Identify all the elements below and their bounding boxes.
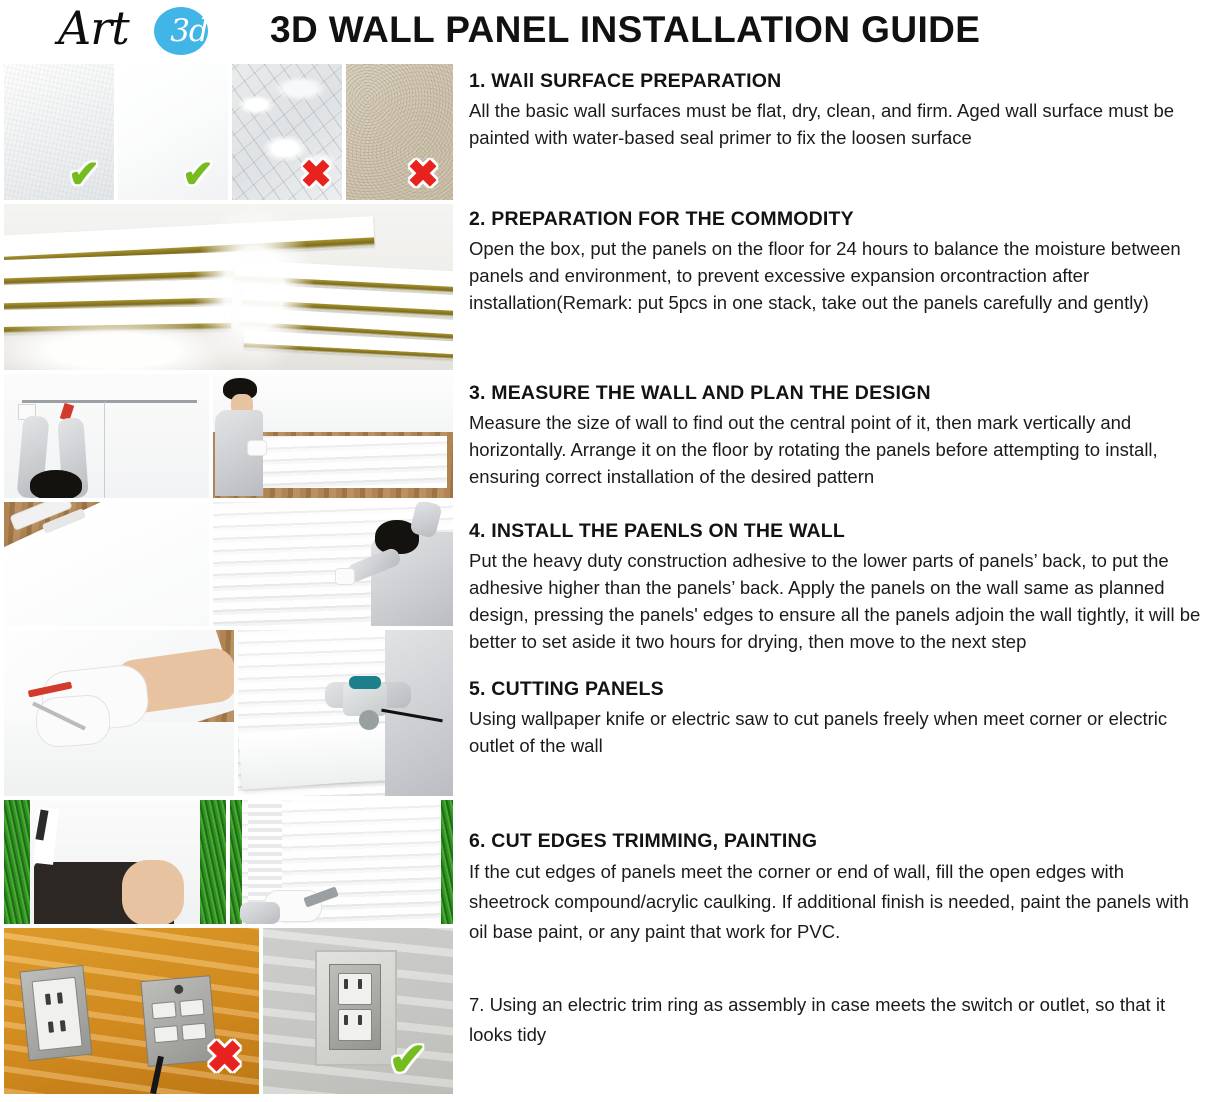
- photo-column: ✔ ✔ ✖ ✖: [0, 60, 455, 1102]
- section-7: 7. Using an electric trim ring as assemb…: [469, 990, 1201, 1050]
- photo-row-outlets: ✖ ✔: [4, 928, 453, 1094]
- cross-icon: ✖: [407, 156, 439, 194]
- section-7-body: 7. Using an electric trim ring as assemb…: [469, 990, 1201, 1050]
- panel-stack-scene: [4, 204, 453, 370]
- photo-cell-good-outlet-trim-ring: ✔: [263, 928, 453, 1094]
- cross-icon: ✖: [300, 156, 332, 194]
- photo-row-measure-plan: [4, 374, 453, 498]
- section-2-heading: 2. PREPARATION FOR THE COMMODITY: [469, 208, 1201, 231]
- photo-cell-trimming-cut-edges: [230, 800, 453, 924]
- section-1-heading: 1. WAll SURFACE PREPARATION: [469, 70, 1201, 93]
- photo-cell-bad-outlet-fit: ✖: [4, 928, 259, 1094]
- photo-cell-marking-panel: [4, 630, 234, 796]
- photo-row-wall-surfaces: ✔ ✔ ✖ ✖: [4, 64, 453, 200]
- section-2-body: Open the box, put the panels on the floo…: [469, 235, 1201, 316]
- guide-content: ✔ ✔ ✖ ✖: [0, 60, 1214, 1102]
- check-icon: ✔: [388, 1036, 427, 1082]
- photo-cell-arranging-panel-on-floor: [213, 374, 453, 498]
- logo-wordmark: Art: [58, 0, 129, 56]
- photo-row-install-panels: [4, 502, 453, 626]
- section-2: 2. PREPARATION FOR THE COMMODITY Open th…: [469, 208, 1201, 316]
- section-5-body: Using wallpaper knife or electric saw to…: [469, 705, 1201, 759]
- logo-badge-text: 3d: [158, 8, 220, 54]
- section-4-heading: 4. INSTALL THE PAENLS ON THE WALL: [469, 520, 1201, 543]
- section-3: 3. MEASURE THE WALL AND PLAN THE DESIGN …: [469, 382, 1201, 490]
- section-5: 5. CUTTING PANELS Using wallpaper knife …: [469, 678, 1201, 759]
- check-icon: ✔: [68, 156, 100, 194]
- check-icon: ✔: [182, 156, 214, 194]
- section-6-heading: 6. CUT EDGES TRIMMING, PAINTING: [469, 830, 1201, 853]
- section-6: 6. CUT EDGES TRIMMING, PAINTING If the c…: [469, 830, 1201, 947]
- section-1: 1. WAll SURFACE PREPARATION All the basi…: [469, 70, 1201, 151]
- section-5-heading: 5. CUTTING PANELS: [469, 678, 1201, 701]
- photo-cell-filling-edges: [4, 800, 226, 924]
- cross-icon: ✖: [206, 1036, 243, 1080]
- photo-cell-cutting-panel-with-saw: [238, 630, 453, 796]
- photo-cell-installing-wave-panel: [213, 502, 453, 626]
- photo-row-edge-trimming: [4, 800, 453, 924]
- photo-row-cutting-panels: [4, 630, 453, 796]
- art3d-logo: Art 3d: [58, 2, 238, 58]
- section-1-body: All the basic wall surfaces must be flat…: [469, 97, 1201, 151]
- photo-cell-flat-painted-wall: ✔: [118, 64, 228, 200]
- photo-cell-rough-stucco-wall: ✖: [346, 64, 453, 200]
- section-3-heading: 3. MEASURE THE WALL AND PLAN THE DESIGN: [469, 382, 1201, 405]
- section-3-body: Measure the size of wall to find out the…: [469, 409, 1201, 490]
- section-4: 4. INSTALL THE PAENLS ON THE WALL Put th…: [469, 520, 1201, 655]
- photo-cell-measuring-wall: [4, 374, 209, 498]
- section-6-body: If the cut edges of panels meet the corn…: [469, 857, 1201, 947]
- section-4-body: Put the heavy duty construction adhesive…: [469, 547, 1201, 655]
- document-header: Art 3d 3D WALL PANEL INSTALLATION GUIDE: [0, 0, 1214, 60]
- photo-cell-applying-adhesive: [4, 502, 209, 626]
- page-title: 3D WALL PANEL INSTALLATION GUIDE: [270, 9, 980, 51]
- photo-cell-stacked-panels: [4, 204, 453, 370]
- photo-cell-peeling-plaster-wall: ✖: [232, 64, 342, 200]
- photo-cell-smooth-white-wall: ✔: [4, 64, 114, 200]
- instructions-column: 1. WAll SURFACE PREPARATION All the basi…: [469, 60, 1201, 1102]
- photo-row-stacked-panels: [4, 204, 453, 370]
